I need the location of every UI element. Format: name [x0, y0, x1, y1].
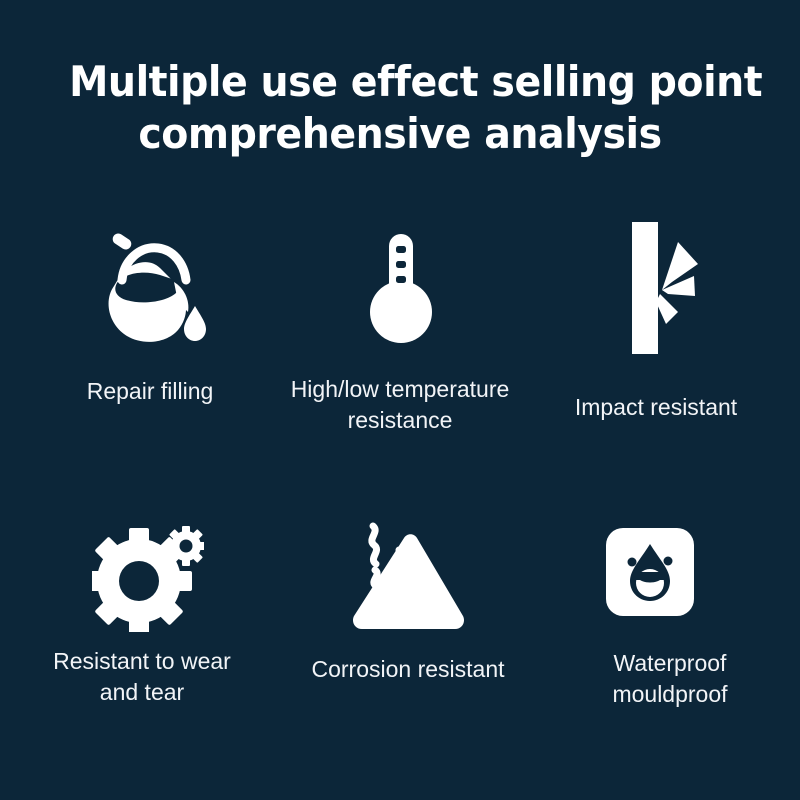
page-title-line-1: Multiple use effect selling point	[69, 56, 731, 108]
feature-item-waterproof-mouldproof: Waterproof mouldproof	[538, 496, 800, 768]
page-title: Multiple use effect selling point compre…	[0, 56, 800, 160]
feature-item-repair-filling: Repair filling	[18, 208, 282, 488]
gears-icon	[92, 524, 204, 632]
thermometer-icon	[366, 230, 436, 348]
feature-grid: Repair filling High/low temperature resi…	[0, 208, 800, 768]
water-droplet-badge-icon	[606, 528, 694, 616]
feature-label-corrosion-resistant: Corrosion resistant	[276, 654, 540, 685]
feature-item-temperature-resistance: High/low temperature resistance	[268, 208, 532, 488]
page-title-line-2: comprehensive analysis	[69, 108, 731, 160]
impact-shards-icon	[616, 220, 724, 356]
feature-label-temperature-resistance: High/low temperature resistance	[268, 374, 532, 436]
feature-label-impact-resistant: Impact resistant	[524, 392, 788, 423]
feature-item-corrosion-resistant: Corrosion resistant	[276, 496, 540, 768]
feature-label-wear-and-tear: Resistant to wear and tear	[10, 646, 274, 708]
corrosion-fumes-icon	[338, 506, 478, 634]
feature-item-impact-resistant: Impact resistant	[524, 208, 788, 488]
feature-label-repair-filling: Repair filling	[18, 376, 282, 407]
paint-bucket-pouring-icon	[100, 230, 212, 352]
feature-label-waterproof-mouldproof: Waterproof mouldproof	[538, 648, 800, 710]
feature-item-wear-and-tear: Resistant to wear and tear	[10, 496, 274, 768]
feature-poster: Multiple use effect selling point compre…	[0, 0, 800, 800]
